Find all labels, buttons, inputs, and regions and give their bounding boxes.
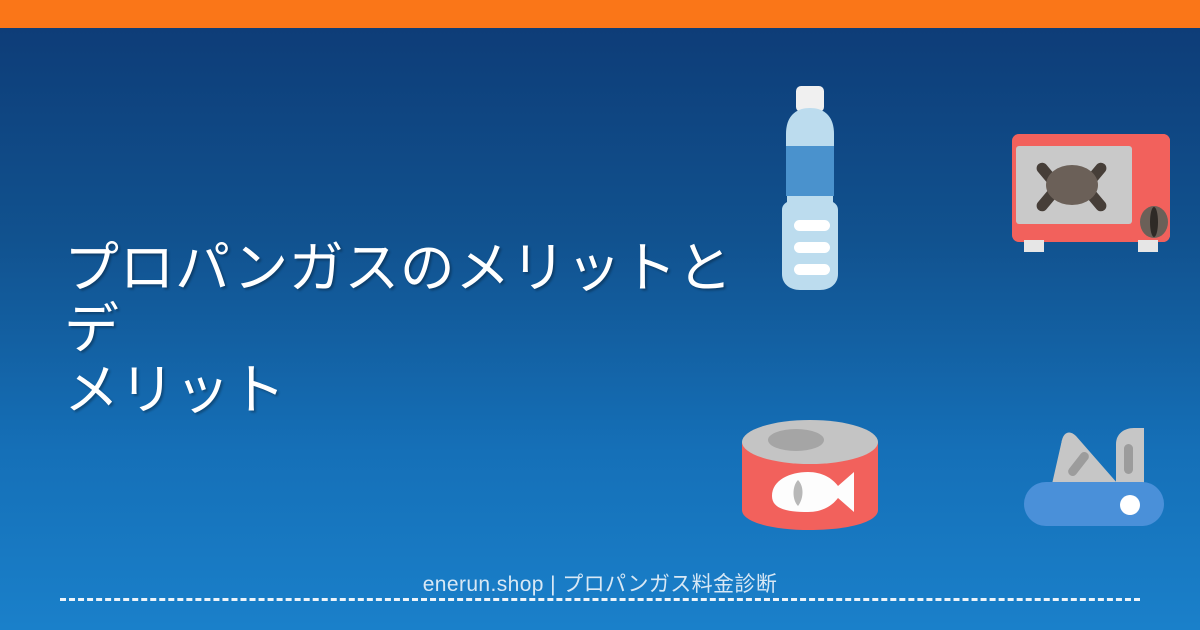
title-block: プロパンガスのメリットとデ メリット bbox=[64, 238, 744, 421]
footer-caption: enerun.shop | プロパンガス料金診断 bbox=[0, 572, 1200, 598]
ogp-card: プロパンガスのメリットとデ メリット bbox=[0, 0, 1200, 630]
safe-icon bbox=[1006, 124, 1190, 254]
water-bottle-icon bbox=[756, 86, 864, 294]
pocket-knife-icon bbox=[1018, 422, 1170, 534]
footer-divider bbox=[60, 598, 1140, 601]
top-accent-bar bbox=[0, 0, 1200, 28]
page-title: プロパンガスのメリットとデ メリット bbox=[64, 238, 744, 421]
canned-fish-icon bbox=[736, 418, 884, 534]
